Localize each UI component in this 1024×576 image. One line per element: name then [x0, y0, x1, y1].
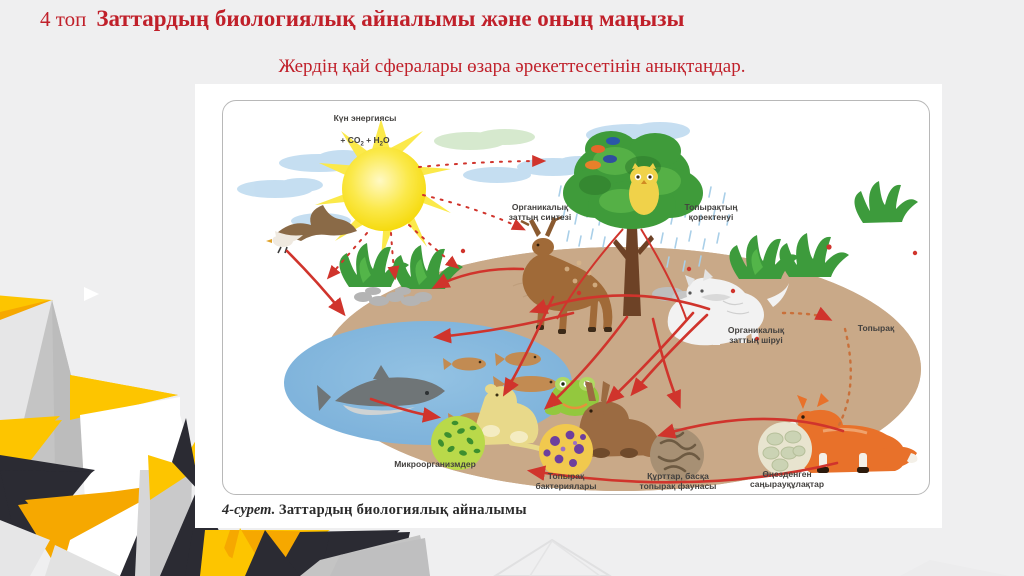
slide-header: 4 топ Заттардың биологиялық айналымы жән…	[40, 6, 684, 32]
subtitle-instruction: Жердің қай сфералары өзара әрекеттесетін…	[0, 56, 1024, 78]
soil-bacteria-circle	[539, 424, 593, 478]
mold-fungi-circle	[758, 422, 812, 476]
label-microorganisms: Микроорганизмдер	[365, 459, 505, 469]
figure-card: Күн энергиясы + CO2 + H2O Органикалық за…	[195, 84, 942, 528]
group-label: 4 топ	[40, 7, 86, 32]
label-worms-fauna: Құрттар, басқа топырақ фаунасы	[620, 471, 736, 492]
owl-icon	[629, 163, 659, 215]
page-title: Заттардың биологиялық айналымы және оның…	[96, 6, 684, 32]
label-organic-decay: Органикалық заттың шіруі	[701, 325, 811, 346]
caption-number: 4-сурет.	[222, 502, 275, 518]
label-organic-synthesis: Органикалық заттың синтезі	[485, 202, 595, 223]
label-sun-energy: Күн энергиясы	[285, 113, 445, 123]
label-soil-nutrition: Топырақтың қоректенуі	[661, 202, 761, 223]
slide-canvas: 4 топ Заттардың биологиялық айналымы жән…	[0, 0, 1024, 576]
biological-cycle-diagram	[223, 101, 930, 495]
caption-text: Заттардың биологиялық айналымы	[279, 502, 527, 518]
figure-frame: Күн энергиясы + CO2 + H2O Органикалық за…	[222, 100, 930, 495]
label-soil-bacteria: Топырақ бактериялары	[516, 471, 616, 492]
label-soil: Топырақ	[841, 323, 911, 333]
eagle-icon	[266, 205, 357, 253]
label-sun-formula: + CO2 + H2O	[285, 125, 445, 149]
figure-caption: 4-сурет. Заттардың биологиялық айналымы	[222, 502, 527, 519]
label-mold-fungi: Өңезденген саңырауқұлақтар	[729, 469, 845, 490]
